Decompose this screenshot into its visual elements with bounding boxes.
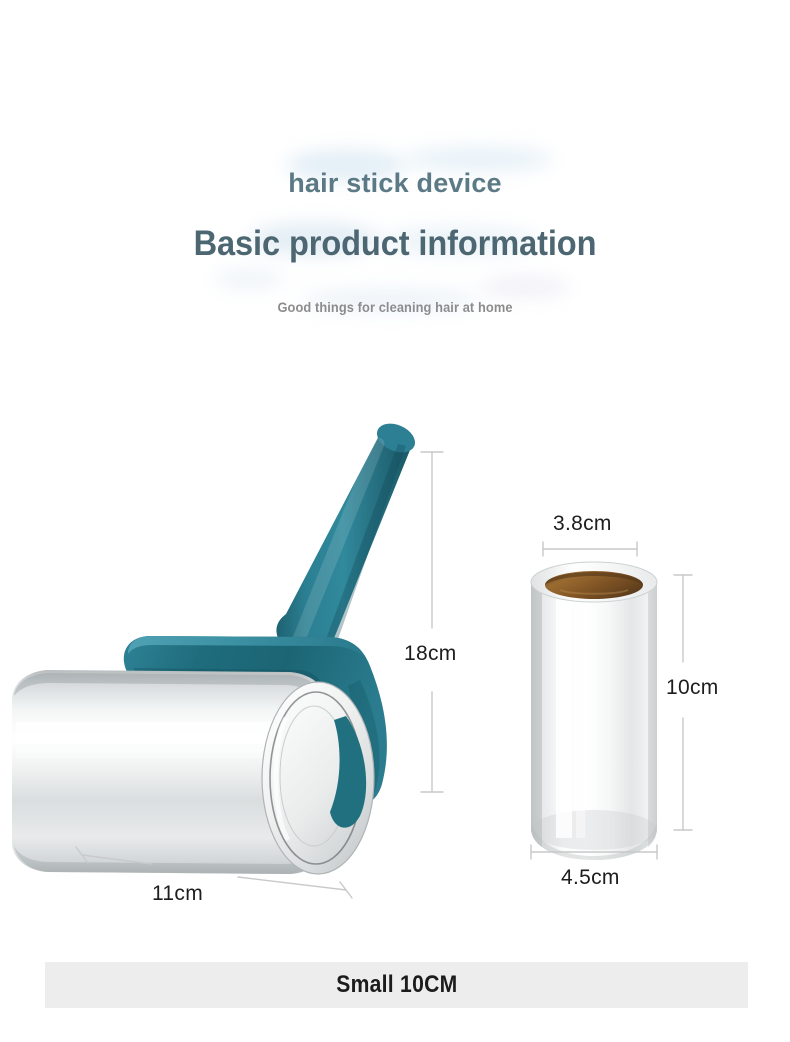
variant-banner-label: Small 10CM bbox=[336, 971, 457, 999]
dimension-18cm bbox=[421, 452, 443, 792]
dimension-label-roller-width: 11cm bbox=[152, 882, 203, 906]
variant-banner: Small 10CM bbox=[45, 962, 748, 1008]
dimension-3-8cm bbox=[543, 542, 637, 556]
dimension-10cm bbox=[674, 575, 692, 830]
dimension-label-refill-outer-diameter: 4.5cm bbox=[561, 866, 620, 890]
dimension-label-refill-height: 10cm bbox=[666, 676, 719, 700]
dimension-label-refill-inner-diameter: 3.8cm bbox=[553, 512, 612, 536]
dimension-label-roller-height: 18cm bbox=[404, 642, 457, 666]
product-infographic-page: hair stick device Basic product informat… bbox=[0, 0, 790, 1042]
refill-roll-illustration bbox=[531, 562, 657, 860]
page-eyebrow: hair stick device bbox=[0, 166, 790, 200]
lint-roller-illustration bbox=[12, 418, 420, 874]
product-illustration-stage bbox=[0, 400, 790, 930]
page-subtitle: Good things for cleaning hair at home bbox=[20, 299, 771, 317]
page-title: Basic product information bbox=[28, 222, 763, 266]
header-block: hair stick device Basic product informat… bbox=[0, 150, 790, 317]
